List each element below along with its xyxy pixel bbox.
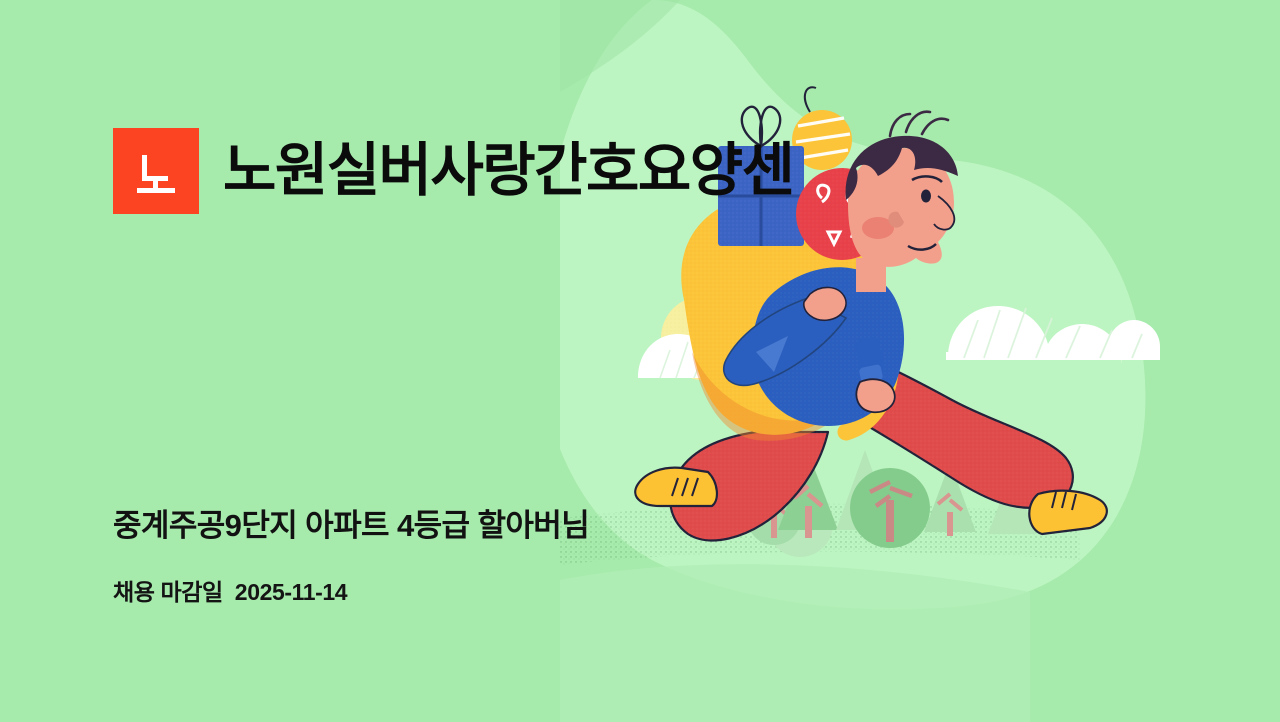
deadline-label: 채용 마감일 xyxy=(113,579,223,605)
listing-text-block: 중계주공9단지 아파트 4등급 할아버님 채용 마감일2025-11-14 xyxy=(113,505,733,607)
organization-logo-badge xyxy=(113,128,199,214)
cloud-right xyxy=(946,306,1160,368)
gift-ball-red xyxy=(796,168,888,260)
gift-ball-yellow-side xyxy=(850,188,930,256)
deadline-date: 2025-11-14 xyxy=(235,579,347,605)
job-posting-poster: 노원실버사랑간호요양센 중계주공9단지 아파트 4등급 할아버님 채용 마감일2… xyxy=(0,0,1280,722)
deadline-row: 채용 마감일2025-11-14 xyxy=(113,573,733,607)
illustration-running-delivery-man xyxy=(560,0,1280,722)
korean-no-character-logo-icon xyxy=(113,128,199,214)
gift-ball-yellow-top xyxy=(792,87,852,170)
cloud-left xyxy=(638,334,828,378)
job-title: 중계주공9단지 아파트 4등급 할아버님 xyxy=(113,505,733,547)
organization-title: 노원실버사랑간호요양센 xyxy=(223,128,793,214)
organization-header: 노원실버사랑간호요양센 xyxy=(113,128,793,214)
